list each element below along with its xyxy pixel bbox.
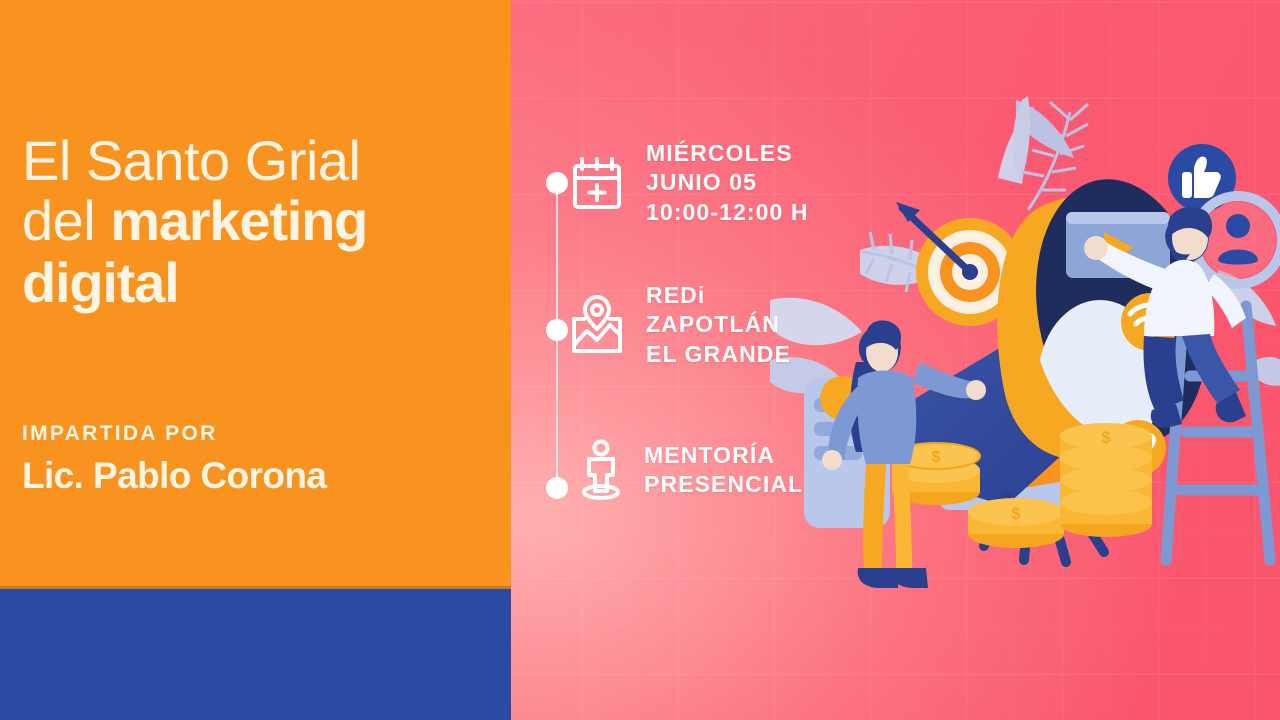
title-line-3: digital bbox=[22, 252, 502, 315]
info-item-location-text: REDi ZAPOTLÁN EL GRANDE bbox=[646, 281, 791, 369]
presenter-name: Lic. Pablo Corona bbox=[22, 455, 326, 497]
presenter-block: IMPARTIDA POR Lic. Pablo Corona bbox=[22, 422, 326, 497]
timeline-connector bbox=[545, 160, 569, 500]
info-item-location: REDi ZAPOTLÁN EL GRANDE bbox=[568, 281, 791, 369]
info-item-date-text: MIÉRCOLES JUNIO 05 10:00-12:00 H bbox=[646, 139, 809, 227]
person-standing-icon bbox=[578, 437, 624, 503]
title-line-2-light: del bbox=[22, 189, 110, 252]
info-item-modality-text: MENTORÍA PRESENCIAL bbox=[644, 441, 803, 500]
title-line-2: del marketing bbox=[22, 190, 502, 253]
info-item-date: MIÉRCOLES JUNIO 05 10:00-12:00 H bbox=[568, 139, 809, 227]
map-pin-icon bbox=[568, 292, 626, 358]
title-line-2-bold: marketing bbox=[110, 189, 367, 252]
timeline-dot-1 bbox=[546, 172, 568, 194]
presenter-label: IMPARTIDA POR bbox=[22, 422, 326, 446]
svg-text:$: $ bbox=[1101, 428, 1111, 447]
svg-text:$: $ bbox=[932, 449, 941, 466]
timeline-dot-2 bbox=[546, 319, 568, 341]
calendar-plus-icon bbox=[568, 150, 626, 216]
title-line-1: El Santo Grial bbox=[22, 132, 502, 190]
info-item-modality: MENTORÍA PRESENCIAL bbox=[578, 437, 803, 503]
blue-footer-panel bbox=[0, 589, 511, 720]
page-title: El Santo Grial del marketing digital bbox=[22, 132, 502, 315]
svg-text:$: $ bbox=[1011, 504, 1021, 523]
ladder-icon bbox=[1166, 306, 1270, 560]
event-poster: $ $ $ bbox=[0, 0, 1280, 720]
digital-marketing-illustration: $ $ $ bbox=[770, 60, 1280, 620]
timeline-dot-3 bbox=[546, 477, 568, 499]
